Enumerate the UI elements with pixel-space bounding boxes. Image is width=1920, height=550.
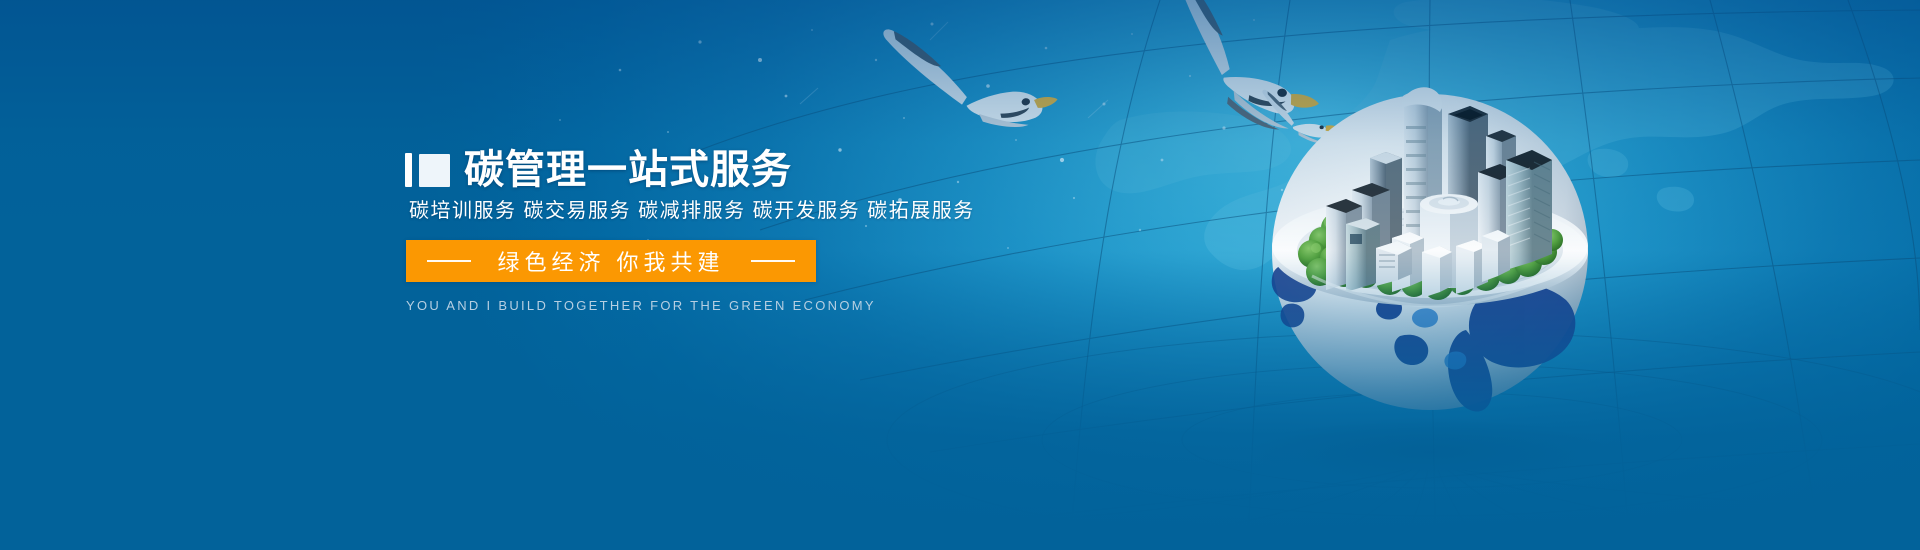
service-list: 碳培训服务 碳交易服务 碳减排服务 碳开发服务 碳拓展服务 [409,201,1025,221]
page-title: 碳管理一站式服务 [464,150,792,190]
slogan-text: 绿色经济 你我共建 [497,245,724,277]
banner-text-block: 碳管理一站式服务 碳培训服务 碳交易服务 碳减排服务 碳开发服务 碳拓展服务 绿… [405,150,1025,313]
bar-square-mark-icon [405,153,450,187]
headline-row: 碳管理一站式服务 [405,150,1025,190]
carbon-management-banner: 碳管理一站式服务 碳培训服务 碳交易服务 碳减排服务 碳开发服务 碳拓展服务 绿… [0,0,1920,550]
ribbon-dash-left [427,260,471,262]
ribbon-dash-right [751,260,795,262]
english-tagline: YOU AND I BUILD TOGETHER FOR THE GREEN E… [406,298,816,313]
slogan-ribbon: 绿色经济 你我共建 [406,240,816,282]
